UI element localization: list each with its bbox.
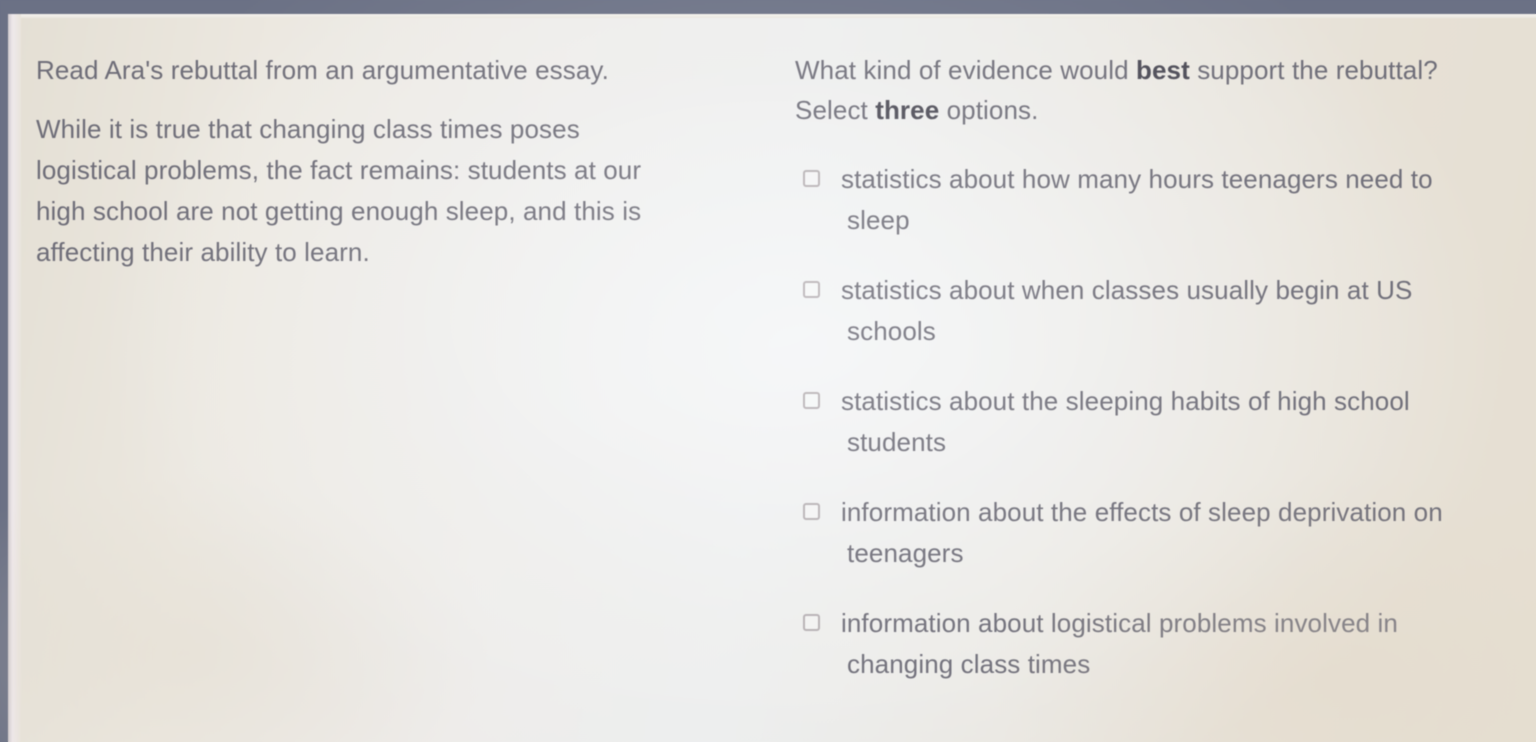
option-label: statistics about when classes usually be… (841, 270, 1535, 352)
option-line: schools (841, 311, 1535, 352)
passage-line: high school are not getting enough sleep… (36, 191, 736, 232)
checkbox-icon[interactable] (803, 170, 820, 187)
option-row[interactable]: statistics about how many hours teenager… (795, 159, 1535, 241)
passage-prompt: Read Ara's rebuttal from an argumentativ… (36, 50, 736, 91)
option-line: information about the effects of sleep d… (841, 492, 1535, 533)
option-row[interactable]: statistics about when classes usually be… (795, 270, 1535, 352)
question-content: Read Ara's rebuttal from an argumentativ… (8, 18, 1536, 742)
question-line-2: Select three options. (795, 90, 1535, 130)
question-text: What kind of evidence would best support… (795, 50, 1535, 130)
option-line: information about logistical problems in… (841, 603, 1535, 644)
passage-line: affecting their ability to learn. (36, 232, 736, 273)
options-list: statistics about how many hours teenager… (795, 159, 1535, 685)
option-line: statistics about when classes usually be… (841, 270, 1535, 311)
checkbox-icon[interactable] (803, 614, 820, 631)
option-line: students (841, 422, 1535, 463)
option-row[interactable]: information about the effects of sleep d… (795, 492, 1535, 574)
option-row[interactable]: statistics about the sleeping habits of … (795, 381, 1535, 463)
question-line-1: What kind of evidence would best support… (795, 50, 1535, 90)
option-line: changing class times (841, 644, 1535, 685)
option-line: statistics about how many hours teenager… (841, 159, 1535, 200)
question-line-2-before: Select (795, 95, 875, 125)
question-line-1-after: support the rebuttal? (1190, 55, 1438, 85)
option-line: statistics about the sleeping habits of … (841, 381, 1535, 422)
option-label: information about the effects of sleep d… (841, 492, 1535, 574)
checkbox-icon[interactable] (803, 392, 820, 409)
question-line-2-after: options. (939, 95, 1038, 125)
question-line-1-before: What kind of evidence would (795, 55, 1136, 85)
checkbox-icon[interactable] (803, 503, 820, 520)
question-emphasis-three: three (875, 95, 939, 125)
option-label: information about logistical problems in… (841, 603, 1535, 685)
question-emphasis-best: best (1136, 55, 1190, 85)
option-row[interactable]: information about logistical problems in… (795, 603, 1535, 685)
checkbox-icon[interactable] (803, 281, 820, 298)
passage-line: While it is true that changing class tim… (36, 109, 736, 150)
passage-line: logistical problems, the fact remains: s… (36, 150, 736, 191)
option-label: statistics about how many hours teenager… (841, 159, 1535, 241)
passage-column: Read Ara's rebuttal from an argumentativ… (36, 50, 736, 273)
option-line: teenagers (841, 533, 1535, 574)
question-column: What kind of evidence would best support… (795, 50, 1535, 685)
option-line: sleep (841, 200, 1535, 241)
screenshot-root: Read Ara's rebuttal from an argumentativ… (0, 0, 1536, 742)
option-label: statistics about the sleeping habits of … (841, 381, 1535, 463)
rebuttal-passage: While it is true that changing class tim… (36, 109, 736, 273)
